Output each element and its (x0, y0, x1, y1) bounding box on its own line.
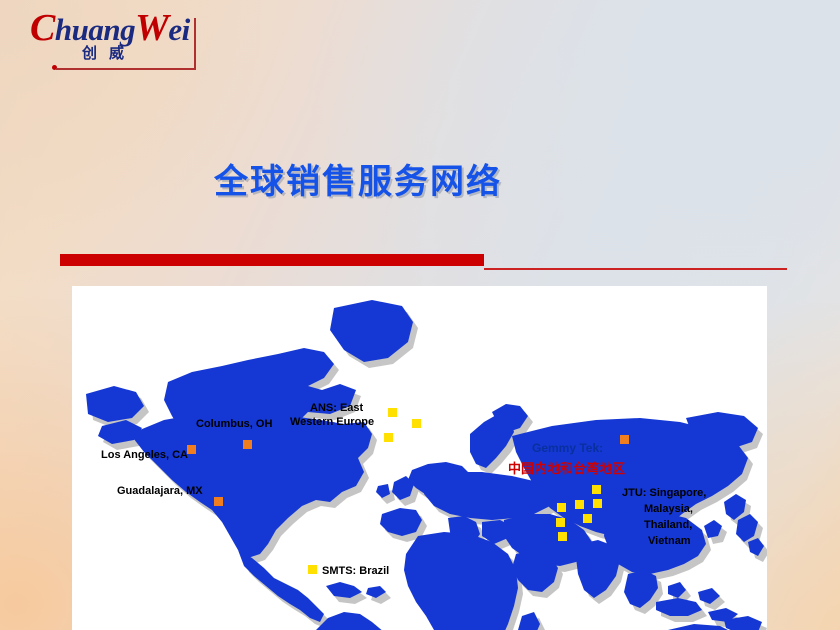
logo-letter-c: C (30, 7, 55, 49)
marker-sea-1 (557, 503, 566, 512)
page-title: 全球销售服务网络 (214, 154, 840, 203)
title-divider-thick (60, 254, 484, 266)
marker-europe-north (388, 408, 397, 417)
marker-china-south (583, 514, 592, 523)
marker-brazil (308, 565, 317, 574)
map-label-los-angeles: Los Angeles, CA (101, 449, 188, 463)
marker-china-north (593, 499, 602, 508)
logo-letters-ei: ei (168, 12, 189, 47)
marker-japan (620, 435, 629, 444)
map-label-china-region: 中国内地和台湾地区 (508, 462, 625, 478)
map-label-ans-line1: ANS: East (310, 402, 363, 416)
map-label-columbus: Columbus, OH (196, 418, 272, 432)
logo-horizontal-rule (56, 68, 196, 70)
map-label-jtu-line2: Malaysia, (644, 503, 693, 517)
marker-sea-3 (558, 532, 567, 541)
slide-canvas: ChuangWei 创威 全球销售服务网络 (0, 0, 840, 630)
marker-europe-mid (412, 419, 421, 428)
world-map-panel: Columbus, OHLos Angeles, CAGuadalajara, … (72, 286, 767, 630)
marker-china-mid (575, 500, 584, 509)
map-label-smts: SMTS: Brazil (322, 565, 389, 579)
marker-europe-south (384, 433, 393, 442)
logo-chinese-name: 创威 (82, 42, 136, 63)
logo-letter-w: W (135, 7, 168, 49)
map-label-guadalajara: Guadalajara, MX (117, 485, 203, 499)
company-logo: ChuangWei 创威 (24, 10, 204, 72)
marker-guadalajara (214, 497, 223, 506)
map-label-gemmy: Gemmy Tek: (532, 441, 603, 456)
map-label-ans-line2: Western Europe (290, 416, 374, 430)
logo-vertical-rule (194, 18, 196, 70)
marker-columbus (243, 440, 252, 449)
map-label-jtu-line3: Thailand, (644, 519, 692, 533)
marker-china-east (592, 485, 601, 494)
map-label-jtu-line1: JTU: Singapore, (622, 487, 706, 501)
title-divider-thin (484, 268, 787, 270)
marker-los-angeles (187, 445, 196, 454)
marker-sea-2 (556, 518, 565, 527)
map-label-jtu-line4: Vietnam (648, 535, 691, 549)
